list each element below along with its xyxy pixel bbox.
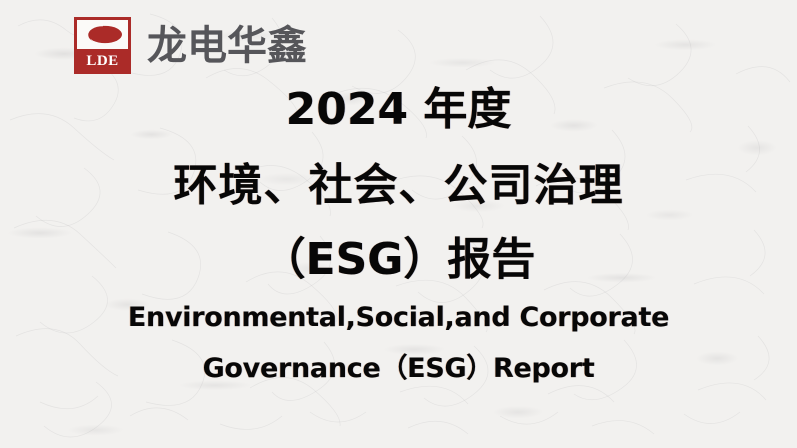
subtitle-line-1: Environmental,Social,and Corporate — [0, 304, 797, 331]
company-name: 龙电华鑫 — [147, 26, 307, 66]
title-line-esg-report: （ESG）报告 — [0, 238, 797, 282]
brand-lockup: LDE 龙电华鑫 — [74, 17, 307, 74]
ellipse-crescent-icon — [81, 23, 125, 47]
logo-wordmark-lde: LDE — [86, 49, 118, 74]
report-cover-page: LDE 龙电华鑫 2024 年度 环境、社会、公司治理 （ESG）报告 Envi… — [0, 0, 797, 448]
subtitle-line-2: Governance（ESG）Report — [0, 355, 797, 382]
title-line-esg-chinese: 环境、社会、公司治理 — [0, 164, 797, 208]
lde-logo-mark: LDE — [74, 17, 131, 74]
cover-title-block: 2024 年度 环境、社会、公司治理 （ESG）报告 Environmental… — [0, 88, 797, 382]
logo-glyph-box — [77, 20, 128, 49]
title-line-year: 2024 年度 — [0, 88, 797, 132]
